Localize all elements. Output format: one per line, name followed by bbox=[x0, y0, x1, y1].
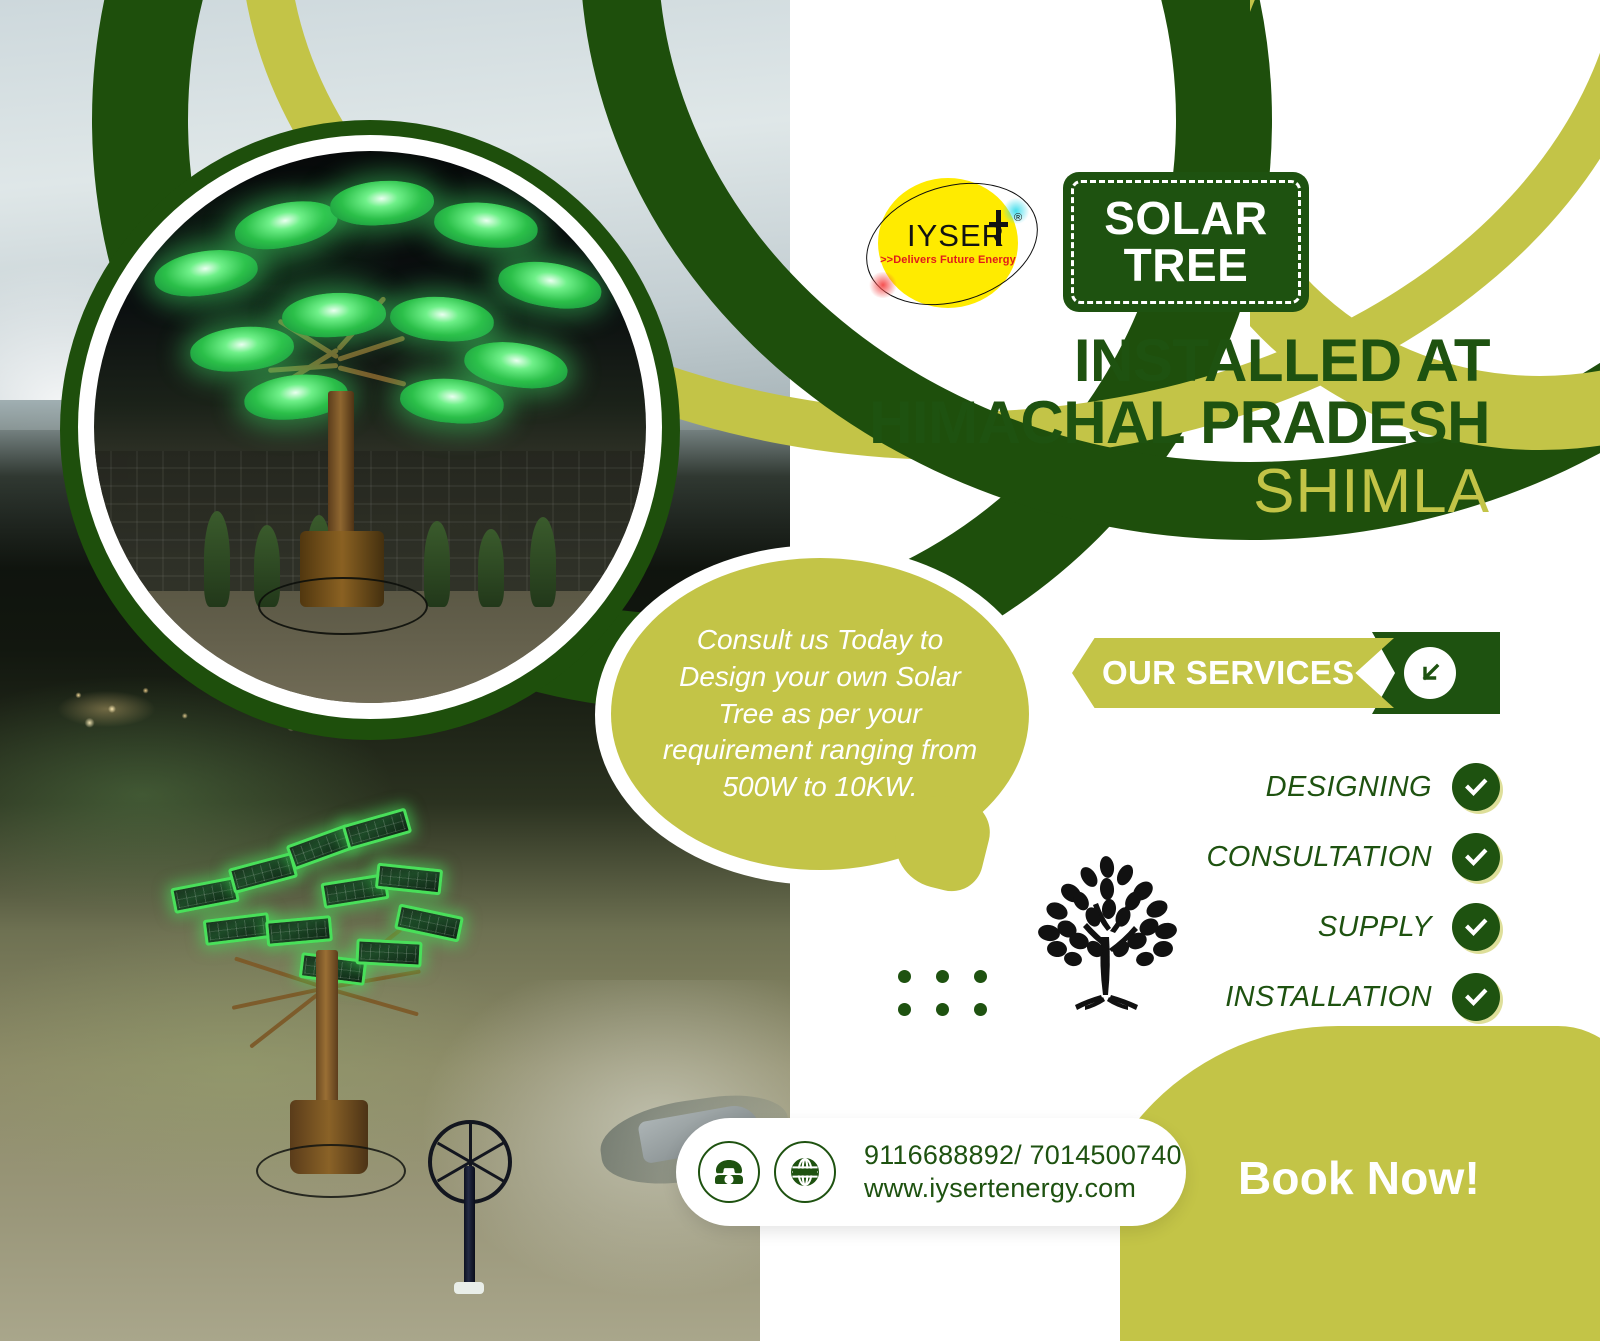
contact-info-bar: 9116688892/ 7014500740 www.iysertenergy.… bbox=[676, 1118, 1186, 1226]
logo-cross-t-icon bbox=[996, 210, 1001, 246]
logo-red-glow-dot bbox=[868, 272, 898, 298]
arrow-down-left-icon bbox=[1404, 647, 1456, 699]
service-label: SUPPLY bbox=[1318, 911, 1432, 944]
service-item-consultation: CONSULTATION bbox=[1140, 822, 1500, 892]
banner-olive-chevron: OUR SERVICES bbox=[1072, 638, 1394, 708]
service-label: INSTALLATION bbox=[1225, 981, 1432, 1014]
speech-bubble: Consult us Today to Design your own Sola… bbox=[611, 558, 1029, 870]
badge-line-1: SOLAR bbox=[1104, 195, 1268, 242]
service-label: CONSULTATION bbox=[1206, 841, 1432, 874]
dot-grid-decoration bbox=[898, 970, 990, 1016]
iysert-logo: IYSER ® >>Delivers Future Energy bbox=[862, 168, 1042, 320]
our-services-label: OUR SERVICES bbox=[1102, 654, 1354, 692]
contact-text: 9116688892/ 7014500740 www.iysertenergy.… bbox=[864, 1139, 1182, 1205]
services-list: DESIGNING CONSULTATION SUPPLY bbox=[1140, 752, 1500, 1032]
check-circle-icon bbox=[1452, 833, 1500, 881]
logo-registered-mark: ® bbox=[1014, 212, 1022, 224]
logo-tagline: >>Delivers Future Energy bbox=[878, 254, 1018, 266]
check-circle-icon bbox=[1452, 763, 1500, 811]
speech-bubble-text: Consult us Today to Design your own Sola… bbox=[650, 622, 990, 807]
solar-tree-badge-text: SOLAR TREE bbox=[1104, 195, 1268, 289]
service-item-supply: SUPPLY bbox=[1140, 892, 1500, 962]
telephone-icon[interactable] bbox=[698, 1141, 760, 1203]
headline-line-1: INSTALLED AT bbox=[760, 330, 1490, 391]
poster-canvas: IYSER ® >>Delivers Future Energy SOLAR T… bbox=[0, 0, 1600, 1341]
badge-line-2: TREE bbox=[1104, 242, 1268, 289]
headline-line-2: HIMACHAL PRADESH bbox=[760, 391, 1490, 455]
solar-tree-badge: SOLAR TREE bbox=[1063, 172, 1309, 312]
inset-photo-solar-tree-closeup bbox=[94, 151, 646, 703]
headline-block: INSTALLED AT HIMACHAL PRADESH SHIMLA bbox=[760, 330, 1490, 528]
pole-wheel-photo-element bbox=[420, 1110, 516, 1290]
check-circle-icon bbox=[1452, 973, 1500, 1021]
check-circle-icon bbox=[1452, 903, 1500, 951]
globe-icon[interactable] bbox=[774, 1141, 836, 1203]
service-item-designing: DESIGNING bbox=[1140, 752, 1500, 822]
contact-phone: 9116688892/ 7014500740 bbox=[864, 1139, 1182, 1172]
tree-silhouette-icon bbox=[1023, 845, 1193, 1010]
contact-website: www.iysertenergy.com bbox=[864, 1172, 1182, 1205]
our-services-banner: OUR SERVICES bbox=[1072, 632, 1500, 714]
headline-line-3-location: SHIMLA bbox=[760, 455, 1490, 528]
service-label: DESIGNING bbox=[1266, 771, 1432, 804]
book-now-label: Book Now! bbox=[1238, 1151, 1480, 1205]
service-item-installation: INSTALLATION bbox=[1140, 962, 1500, 1032]
